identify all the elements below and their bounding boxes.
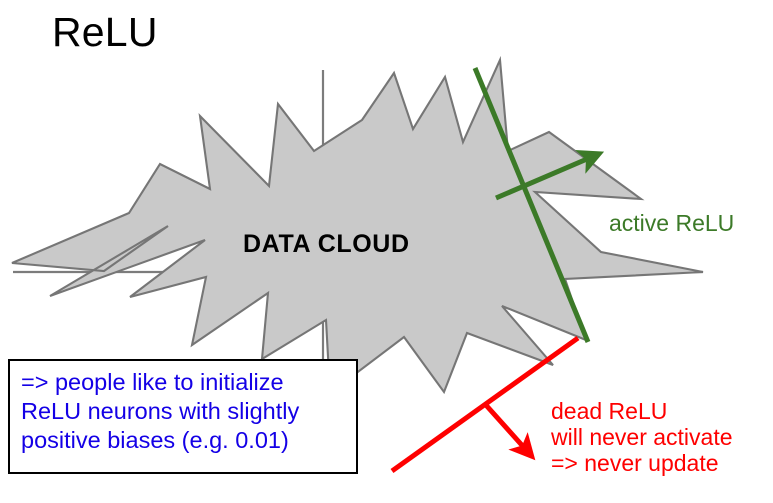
data-cloud-label: DATA CLOUD	[243, 230, 410, 258]
dead-relu-label-line-3: => never update	[551, 450, 719, 476]
data-cloud-shape	[12, 60, 703, 393]
dead-relu-normal-arrow	[485, 404, 528, 452]
note-line-3: positive biases (e.g. 0.01)	[21, 427, 289, 453]
slide-canvas: ReLU DATA CLOUD active ReLU dead ReLUwil…	[0, 0, 773, 503]
note-line-2: ReLU neurons with slightly	[21, 398, 299, 424]
dead-relu-label: dead ReLUwill never activate=> never upd…	[551, 399, 733, 476]
initialization-note-box: => people like to initializeReLU neurons…	[8, 359, 358, 474]
note-line-1: => people like to initialize	[21, 369, 284, 395]
initialization-note-text: => people like to initializeReLU neurons…	[21, 368, 299, 455]
dead-relu-label-line-1: dead ReLU	[551, 398, 667, 424]
page-title: ReLU	[52, 10, 158, 56]
active-relu-label: active ReLU	[609, 211, 734, 237]
dead-relu-label-line-2: will never activate	[551, 424, 733, 450]
